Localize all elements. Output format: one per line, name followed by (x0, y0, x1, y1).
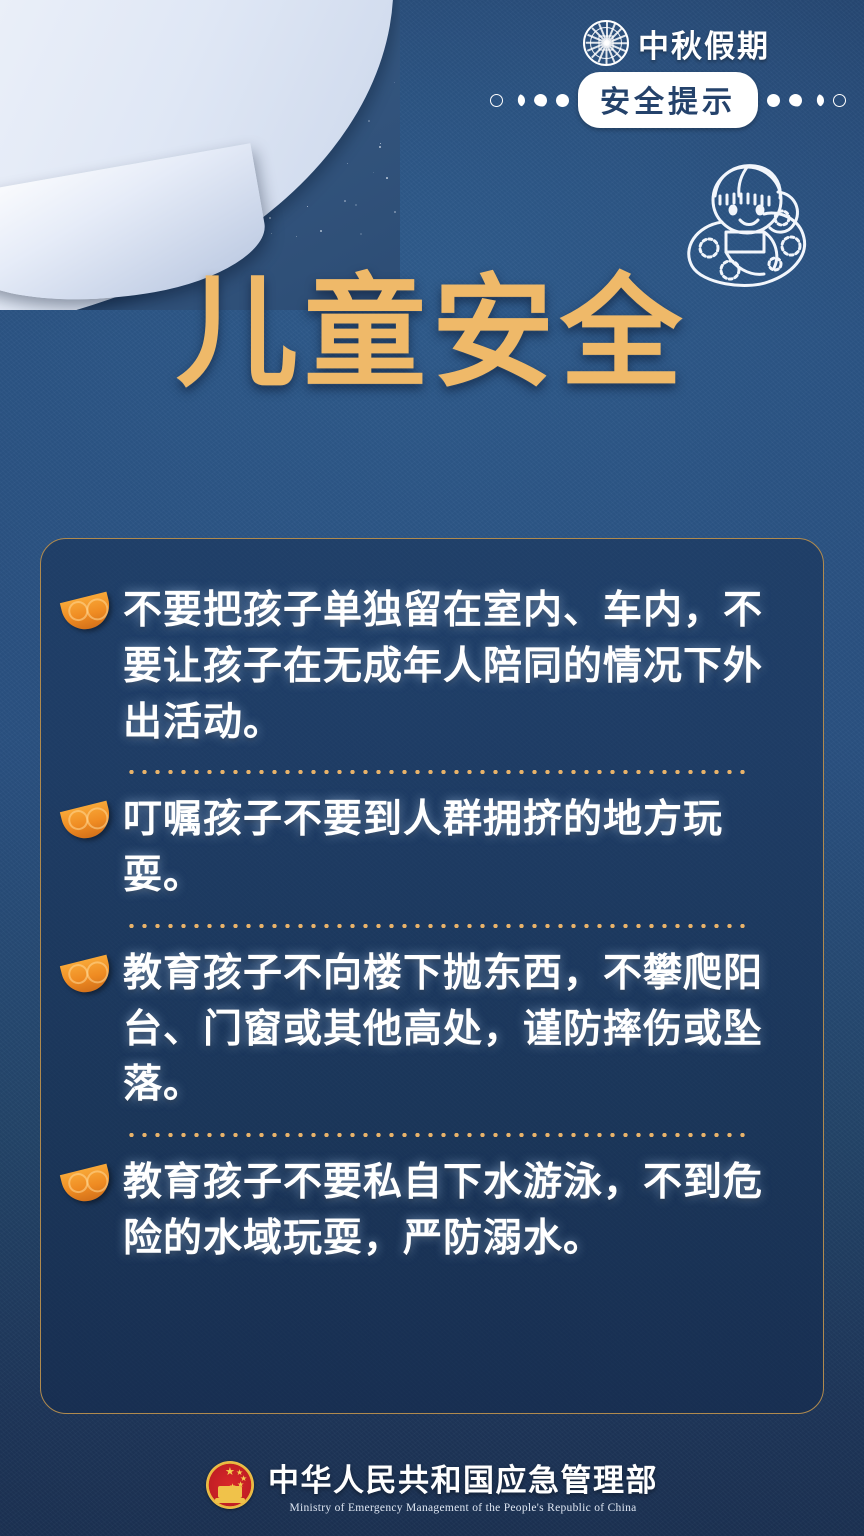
moon-phase-dots-left (490, 94, 569, 107)
moon-crescent-icon (811, 94, 824, 107)
mooncake-slice-icon (60, 801, 114, 844)
tips-card: 不要把孩子单独留在室内、车内，不要让孩子在无成年人陪同的情况下外出活动。 叮嘱孩… (40, 538, 824, 1414)
chrysanthemum-seal-icon (583, 20, 629, 66)
moon-full-icon (556, 94, 569, 107)
footer-org: 中华人民共和国应急管理部 Ministry of Emergency Manag… (268, 1455, 658, 1514)
divider (125, 1133, 745, 1137)
page-title: 儿童安全 (0, 272, 864, 394)
safety-tips-badge: 安全提示 (578, 72, 758, 128)
header: 中秋假期 安全提示 (470, 18, 846, 126)
moon-gibbous-icon (534, 94, 547, 107)
tip-text: 教育孩子不要私自下水游泳，不到危险的水域玩耍，严防溺水。 (123, 1155, 793, 1267)
footer-org-en: Ministry of Emergency Management of the … (268, 1502, 658, 1514)
header-title-row: 中秋假期 (583, 20, 770, 66)
national-emblem-icon: ★ ★ ★ ★ ★ (206, 1461, 254, 1509)
moon-ring-icon (490, 94, 503, 107)
header-title: 中秋假期 (638, 21, 770, 66)
header-badge-row: 安全提示 (490, 72, 846, 128)
tip-text: 叮嘱孩子不要到人群拥挤的地方玩耍。 (123, 792, 793, 904)
footer: ★ ★ ★ ★ ★ 中华人民共和国应急管理部 Ministry of Emerg… (0, 1455, 864, 1514)
mooncake-slice-icon (60, 1164, 114, 1207)
footer-org-cn: 中华人民共和国应急管理部 (268, 1455, 658, 1500)
mooncake-slice-icon (60, 954, 114, 997)
moon-ring-icon (833, 94, 846, 107)
moon-gibbous-icon (789, 94, 802, 107)
girl-line-art-icon (660, 152, 850, 292)
emblem-stars: ★ ★ ★ ★ ★ (215, 1468, 245, 1482)
moon-phase-dots-right (767, 94, 846, 107)
emblem-gate (218, 1486, 242, 1498)
moon-crescent-icon (512, 94, 525, 107)
tip-text: 不要把孩子单独留在室内、车内，不要让孩子在无成年人陪同的情况下外出活动。 (123, 583, 793, 750)
tip-text: 教育孩子不向楼下抛东西，不攀爬阳台、门窗或其他高处，谨防摔伤或坠落。 (123, 946, 793, 1113)
tip-item: 不要把孩子单独留在室内、车内，不要让孩子在无成年人陪同的情况下外出活动。 (63, 583, 793, 750)
tip-item: 叮嘱孩子不要到人群拥挤的地方玩耍。 (63, 792, 793, 904)
tip-item: 教育孩子不要私自下水游泳，不到危险的水域玩耍，严防溺水。 (63, 1155, 793, 1267)
mooncake-slice-icon (60, 592, 114, 635)
divider (125, 770, 745, 774)
moon-full-icon (767, 94, 780, 107)
poster: 中秋假期 安全提示 (0, 0, 864, 1536)
divider (125, 924, 745, 928)
tip-item: 教育孩子不向楼下抛东西，不攀爬阳台、门窗或其他高处，谨防摔伤或坠落。 (63, 946, 793, 1113)
